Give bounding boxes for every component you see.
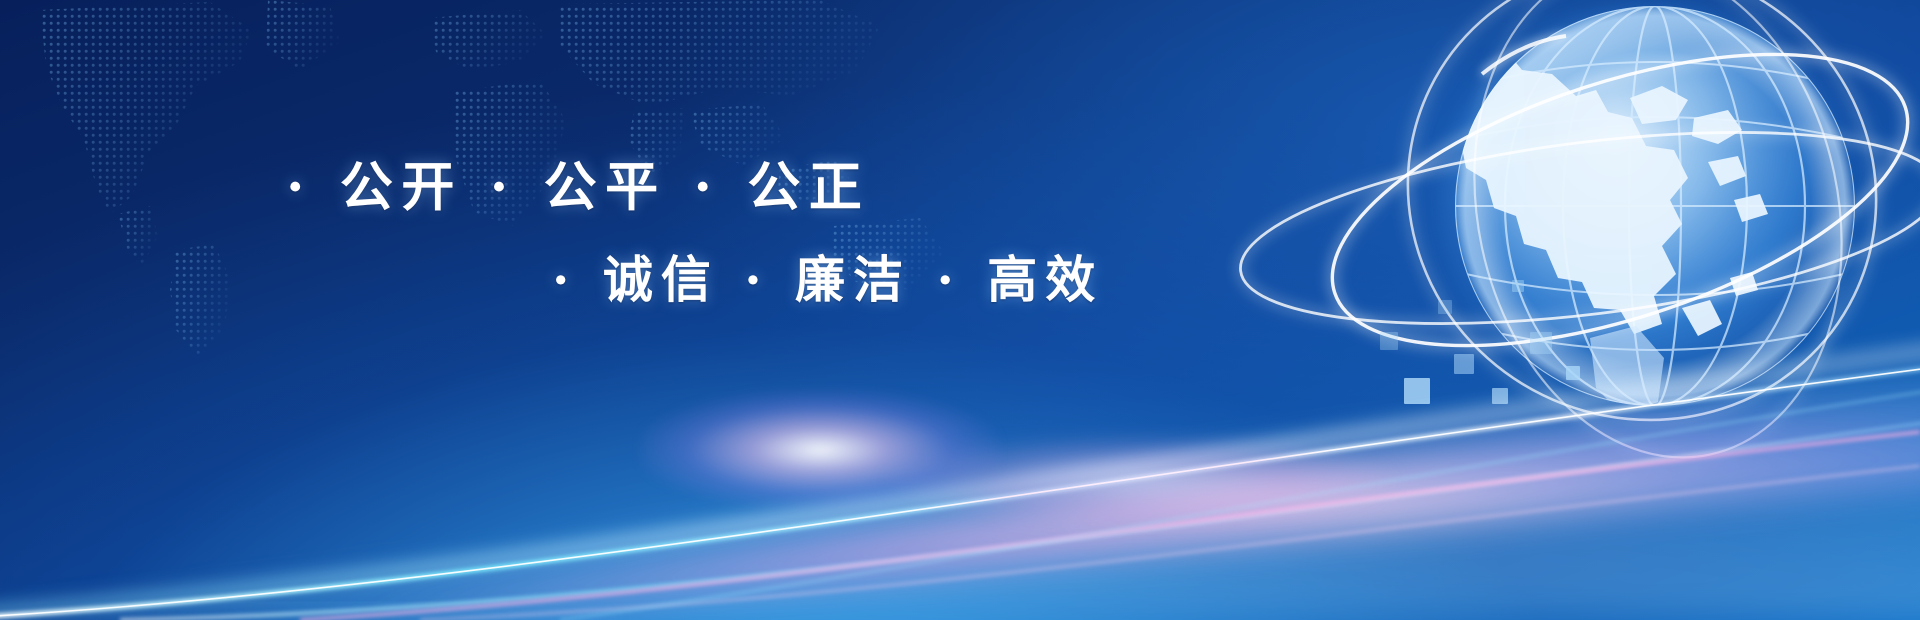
slogan-line-1: · 公开 · 公平 · 公正 <box>286 145 870 221</box>
banner-canvas: · 公开 · 公平 · 公正 · 诚信 · 廉洁 · 高效 <box>0 0 1920 620</box>
slogan-line-1-text: · 公开 · 公平 · 公正 <box>286 156 870 218</box>
bottom-light-wave-streaks <box>0 290 1920 620</box>
wave-light-hotspot-secondary <box>880 435 1400 525</box>
